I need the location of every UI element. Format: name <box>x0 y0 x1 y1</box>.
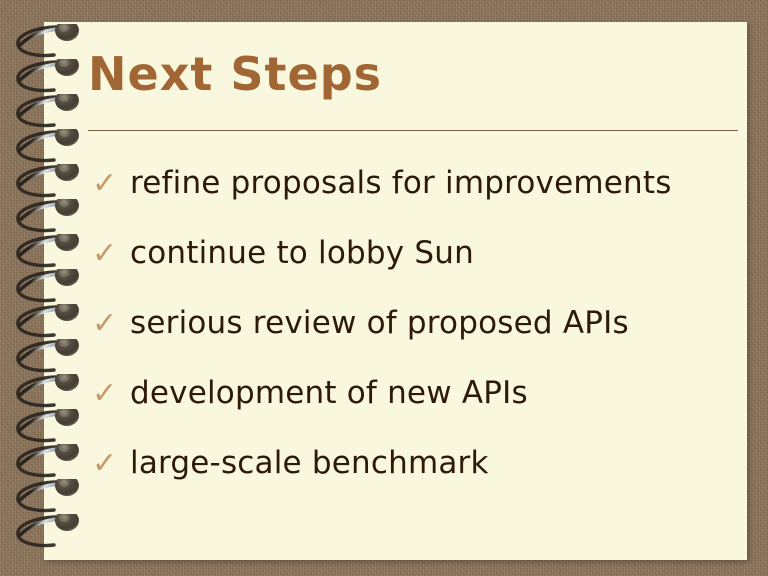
bullet-item-label: large-scale benchmark <box>130 448 742 479</box>
bullet-item: ✓continue to lobby Sun <box>92 238 742 308</box>
slide-title: Next Steps <box>88 47 382 101</box>
bullet-item: ✓serious review of proposed APIs <box>92 308 742 378</box>
checkmark-icon: ✓ <box>92 239 130 269</box>
bullet-item-label: serious review of proposed APIs <box>130 308 742 339</box>
checkmark-icon: ✓ <box>92 379 130 409</box>
bullet-item-label: refine proposals for improvements <box>130 168 742 199</box>
bullet-list: ✓refine proposals for improvements✓conti… <box>92 168 742 518</box>
checkmark-icon: ✓ <box>92 449 130 479</box>
bullet-item-label: continue to lobby Sun <box>130 238 742 269</box>
checkmark-icon: ✓ <box>92 169 130 199</box>
bullet-item: ✓large-scale benchmark <box>92 448 742 518</box>
title-underline-rule <box>88 130 738 131</box>
bullet-item-label: development of new APIs <box>130 378 742 409</box>
bullet-item: ✓development of new APIs <box>92 378 742 448</box>
presentation-slide: Next Steps ✓refine proposals for improve… <box>0 0 768 576</box>
bullet-item: ✓refine proposals for improvements <box>92 168 742 238</box>
checkmark-icon: ✓ <box>92 309 130 339</box>
